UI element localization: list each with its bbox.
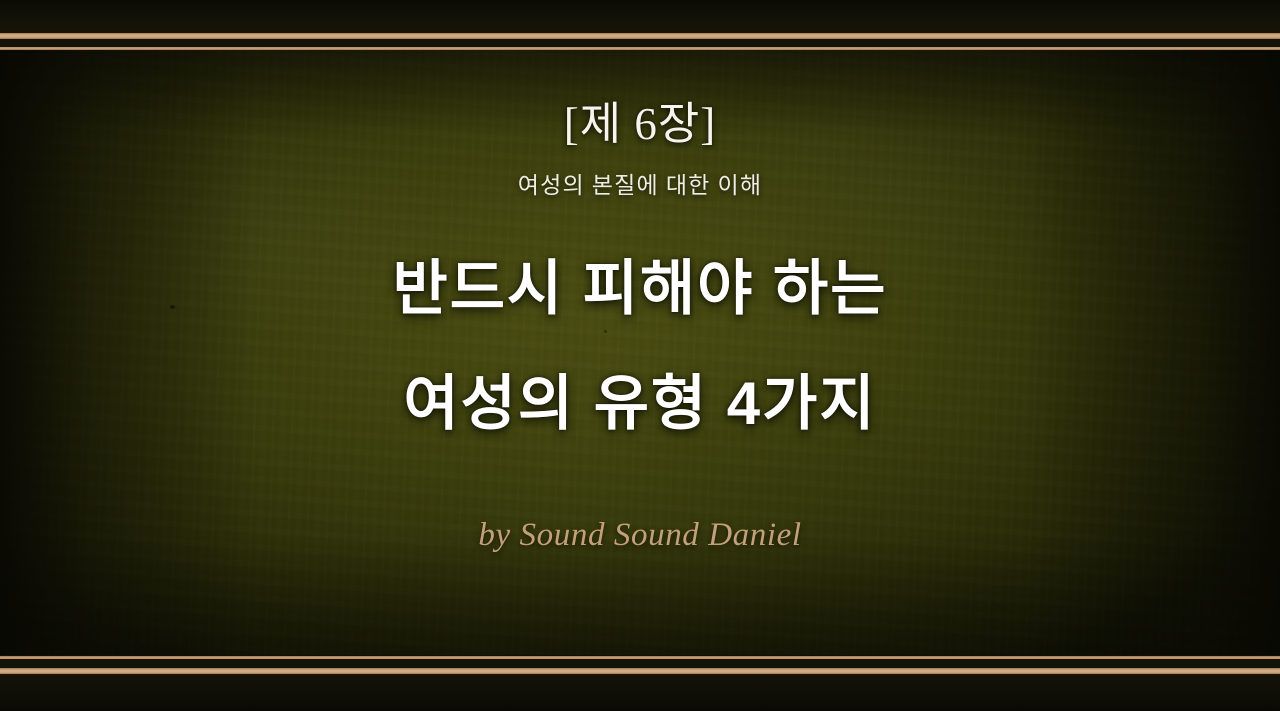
- top-dark-band: [0, 0, 1280, 33]
- main-title: 반드시 피해야 하는 여성의 유형 4가지: [393, 259, 888, 434]
- main-title-line-1: 반드시 피해야 하는: [393, 259, 888, 319]
- slide-subtitle: 여성의 본질에 대한 이해: [518, 174, 762, 197]
- bottom-rule-gap: [0, 659, 1280, 668]
- chapter-label: [제 6장]: [564, 102, 717, 147]
- bottom-dark-band: [0, 674, 1280, 711]
- main-title-line-2: 여성의 유형 4가지: [403, 374, 876, 434]
- top-rule-gap: [0, 39, 1280, 47]
- title-slide: [제 6장] 여성의 본질에 대한 이해 반드시 피해야 하는 여성의 유형 4…: [0, 0, 1280, 711]
- author-byline: by Sound Sound Daniel: [478, 519, 801, 552]
- slide-content: [제 6장] 여성의 본질에 대한 이해 반드시 피해야 하는 여성의 유형 4…: [0, 50, 1280, 655]
